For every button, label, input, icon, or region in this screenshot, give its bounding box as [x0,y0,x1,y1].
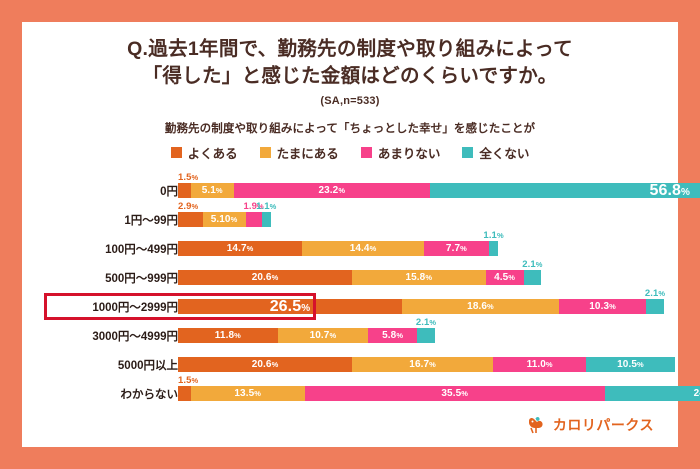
logo-text: カロリパークス [553,415,654,435]
stacked-bar: 26.5%18.6%10.3%2.1% [178,299,664,314]
chart-row: 3000円〜4999円11.8%10.7%5.8%2.1% [22,315,678,344]
legend-item-4[interactable]: 全くない [462,143,529,162]
legend-items: よくあるたまにあるあまりない全くない [22,143,678,162]
bar-segment: 1.1% [262,212,271,227]
segment-value-label: 11.8% [215,331,241,341]
segment-value-label: 5.8% [382,331,403,341]
bar-segment: 23.2% [234,183,430,198]
sample-size-note: (SA,n=533) [22,95,678,107]
segment-value-label: 14.4% [350,244,377,254]
category-label: 1000円〜2999円 [38,299,178,315]
bar-segment: 1.5% [178,386,191,401]
segment-value-label: 11.0% [527,360,553,370]
segment-value-label: 2.1% [522,260,542,270]
chart-row: 500円〜999円20.6%15.8%4.5%2.1% [22,257,678,286]
bar-segment: 11.8% [178,328,278,343]
legend-swatch-icon [171,147,182,158]
legend: 勤務先の制度や取り組みによって「ちょっとした幸せ」を感じたことが よくあるたまに… [22,120,678,162]
segment-value-label: 14.7% [227,244,254,254]
segment-value-label: 13.5% [234,389,261,399]
bar-segment: 15.8% [352,270,486,285]
segment-value-label: 35.5% [441,389,468,399]
bird-logo-icon [526,415,546,435]
chart-row: 100円〜499円14.7%14.4%7.7%1.1% [22,228,678,257]
bar-segment: 2.9% [178,212,203,227]
bar-segment: 14.4% [302,241,424,256]
bar-segment: 5.10% [203,212,246,227]
segment-value-label: 10.5% [617,360,644,370]
stacked-bar: 2.9%5.10%1.9%1.1% [178,212,271,227]
segment-value-label: 56.8% [650,183,691,199]
bar-segment: 16.7% [352,357,493,372]
segment-value-label: 20.6% [252,273,279,283]
bar-segment: 1.9% [246,212,262,227]
chart-row: 5000円以上20.6%16.7%11.0%10.5% [22,344,678,373]
title-block: Q.過去1年間で、勤務先の制度や取り組みによって 「得した」と感じた金額はどのく… [22,36,678,107]
segment-value-label: 2.1% [645,289,665,299]
bar-segment: 11.0% [493,357,586,372]
stacked-bar-chart: 0円1.5%5.1%23.2%56.8%1円〜99円2.9%5.10%1.9%1… [22,170,678,402]
legend-item-label: たまにある [277,143,339,162]
category-label: 500円〜999円 [38,270,178,286]
segment-value-label: 5.10% [211,215,238,225]
bar-segment: 2.1% [524,270,542,285]
segment-value-label: 5.1% [202,186,223,196]
bar-segment: 7.7% [424,241,489,256]
segment-value-label: 1.1% [483,231,503,241]
orange-frame: Q.過去1年間で、勤務先の制度や取り組みによって 「得した」と感じた金額はどのく… [0,0,700,469]
brand-logo: カロリパークス [526,415,654,435]
bar-segment: 1.1% [489,241,498,256]
bar-segment: 35.5% [305,386,605,401]
chart-row: わからない1.5%13.5%35.5%24.2% [22,373,678,402]
bar-segment: 20.6% [178,270,352,285]
legend-item-label: よくある [188,143,238,162]
bar-segment: 26.5% [178,299,402,314]
bar-segment: 2.1% [417,328,435,343]
legend-item-1[interactable]: よくある [171,143,238,162]
legend-heading: 勤務先の制度や取り組みによって「ちょっとした幸せ」を感じたことが [22,120,678,136]
legend-item-2[interactable]: たまにある [260,143,339,162]
bar-segment: 10.5% [586,357,675,372]
category-label: 0円 [38,183,178,199]
category-label: 5000円以上 [38,357,178,373]
category-label: わからない [38,386,178,402]
bar-segment: 10.7% [278,328,368,343]
legend-swatch-icon [361,147,372,158]
bar-segment: 5.1% [191,183,234,198]
segment-value-label: 26.5% [270,299,311,315]
segment-value-label: 15.8% [405,273,432,283]
survey-card: Q.過去1年間で、勤務先の制度や取り組みによって 「得した」と感じた金額はどのく… [22,22,678,447]
segment-value-label: 18.6% [467,302,494,312]
bar-segment: 5.8% [368,328,417,343]
stacked-bar: 14.7%14.4%7.7%1.1% [178,241,498,256]
bar-segment: 18.6% [402,299,559,314]
segment-value-label: 16.7% [409,360,436,370]
legend-item-label: 全くない [479,143,529,162]
chart-row: 1円〜99円2.9%5.10%1.9%1.1% [22,199,678,228]
page-title-line2: 「得した」と感じた金額はどのくらいですか。 [22,63,678,90]
bar-segment: 56.8% [430,183,700,198]
segment-value-label: 23.2% [318,186,345,196]
bar-segment: 20.6% [178,357,352,372]
bar-segment: 2.1% [646,299,664,314]
bar-segment: 1.5% [178,183,191,198]
bar-segment: 4.5% [486,270,524,285]
bar-segment: 13.5% [191,386,305,401]
legend-swatch-icon [260,147,271,158]
bar-segment: 24.2% [605,386,700,401]
stacked-bar: 20.6%16.7%11.0%10.5% [178,357,675,372]
legend-item-label: あまりない [378,143,441,162]
stacked-bar: 1.5%5.1%23.2%56.8% [178,183,700,198]
segment-value-label: 10.7% [310,331,337,341]
segment-value-label: 10.3% [589,302,616,312]
category-label: 1円〜99円 [38,212,178,228]
segment-value-label: 2.1% [416,318,436,328]
legend-swatch-icon [462,147,473,158]
stacked-bar: 20.6%15.8%4.5%2.1% [178,270,541,285]
chart-row: 1000円〜2999円26.5%18.6%10.3%2.1% [22,286,678,315]
category-label: 100円〜499円 [38,241,178,257]
segment-value-label: 2.9% [178,202,198,212]
segment-value-label: 1.1% [256,202,276,212]
segment-value-label: 1.5% [178,173,198,183]
segment-value-label: 20.6% [252,360,279,370]
chart-row: 0円1.5%5.1%23.2%56.8% [22,170,678,199]
legend-item-3[interactable]: あまりない [361,143,441,162]
page-title-line1: Q.過去1年間で、勤務先の制度や取り組みによって [22,36,678,63]
segment-value-label: 24.2% [694,389,700,399]
segment-value-label: 1.5% [178,376,198,386]
stacked-bar: 11.8%10.7%5.8%2.1% [178,328,435,343]
segment-value-label: 4.5% [494,273,515,283]
bar-segment: 14.7% [178,241,302,256]
bar-segment: 10.3% [559,299,646,314]
segment-value-label: 7.7% [446,244,467,254]
category-label: 3000円〜4999円 [38,328,178,344]
stacked-bar: 1.5%13.5%35.5%24.2% [178,386,700,401]
